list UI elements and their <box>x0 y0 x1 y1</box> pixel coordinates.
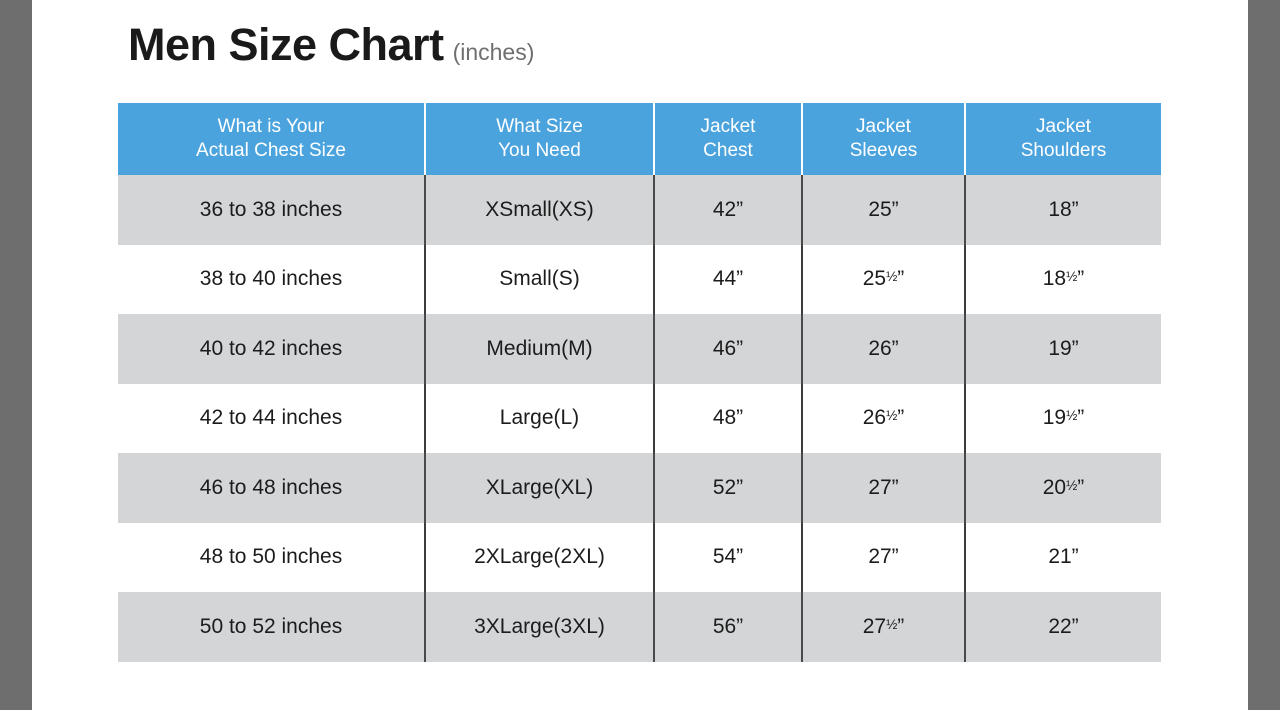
jacket-row-sleeves: 25½” <box>802 245 965 315</box>
table-row: 36 to 38 inchesXSmall(XS)42”25”18” <box>118 175 1161 245</box>
header-line-1: What Size <box>496 116 583 137</box>
jacket-row-size-needed: 2XLarge(2XL) <box>425 523 654 593</box>
table-row: 40 to 42 inchesMedium(M)46”26”19” <box>118 314 1161 384</box>
header-line-1: Jacket <box>701 116 756 137</box>
jacket-row-chest: 42” <box>654 175 802 245</box>
table-body: 36 to 38 inchesXSmall(XS)42”25”18”38 to … <box>118 175 1161 662</box>
column-header-jacket-sleeves: Jacket Sleeves <box>802 103 965 175</box>
header-line-1: Jacket <box>856 116 911 137</box>
jacket-row-sleeves: 27½” <box>802 592 965 662</box>
jacket-row-actual-chest-size: 46 to 48 inches <box>118 453 425 523</box>
jacket-row-sleeves: 27” <box>802 453 965 523</box>
jacket-row-size-needed: XSmall(XS) <box>425 175 654 245</box>
jacket-row-chest: 44” <box>654 245 802 315</box>
jacket-row-actual-chest-size: 48 to 50 inches <box>118 523 425 593</box>
column-header-jacket-shoulders: Jacket Shoulders <box>965 103 1161 175</box>
header-line-1: Jacket <box>1036 116 1091 137</box>
jacket-row-chest: 52” <box>654 453 802 523</box>
jacket-row-shoulders: 21” <box>965 523 1161 593</box>
jacket-row-size-needed: Large(L) <box>425 384 654 454</box>
jacket-row-actual-chest-size: 40 to 42 inches <box>118 314 425 384</box>
jacket-row-sleeves: 26” <box>802 314 965 384</box>
column-header-jacket-chest: Jacket Chest <box>654 103 802 175</box>
jacket-row-shoulders: 19½” <box>965 384 1161 454</box>
jacket-row-size-needed: XLarge(XL) <box>425 453 654 523</box>
header-line-2: Shoulders <box>1021 140 1107 161</box>
table-header: What is Your Actual Chest Size What Size… <box>118 103 1161 175</box>
left-letterbox-band <box>0 0 32 710</box>
table-row: 46 to 48 inchesXLarge(XL)52”27”20½” <box>118 453 1161 523</box>
table-header-row: What is Your Actual Chest Size What Size… <box>118 103 1161 175</box>
header-line-2: You Need <box>498 140 581 161</box>
page-title-main: Men Size Chart <box>128 22 444 67</box>
jacket-row-shoulders: 22” <box>965 592 1161 662</box>
jacket-row-actual-chest-size: 38 to 40 inches <box>118 245 425 315</box>
jacket-row-size-needed: 3XLarge(3XL) <box>425 592 654 662</box>
column-header-actual-chest-size: What is Your Actual Chest Size <box>118 103 425 175</box>
table-row: 38 to 40 inchesSmall(S)44”25½”18½” <box>118 245 1161 315</box>
header-line-2: Sleeves <box>850 140 918 161</box>
jacket-row-actual-chest-size: 50 to 52 inches <box>118 592 425 662</box>
jacket-row-shoulders: 19” <box>965 314 1161 384</box>
jacket-row-chest: 54” <box>654 523 802 593</box>
jacket-row-sleeves: 26½” <box>802 384 965 454</box>
jacket-row-actual-chest-size: 36 to 38 inches <box>118 175 425 245</box>
jacket-row-chest: 56” <box>654 592 802 662</box>
table-row: 50 to 52 inches3XLarge(3XL)56”27½”22” <box>118 592 1161 662</box>
page-title: Men Size Chart (inches) <box>128 22 534 67</box>
page-title-unit: (inches) <box>453 41 535 64</box>
men-size-chart-table: What is Your Actual Chest Size What Size… <box>118 103 1161 662</box>
jacket-row-size-needed: Medium(M) <box>425 314 654 384</box>
jacket-row-actual-chest-size: 42 to 44 inches <box>118 384 425 454</box>
jacket-row-size-needed: Small(S) <box>425 245 654 315</box>
jacket-row-shoulders: 18½” <box>965 245 1161 315</box>
jacket-row-sleeves: 27” <box>802 523 965 593</box>
header-line-2: Actual Chest Size <box>196 140 346 161</box>
jacket-row-shoulders: 18” <box>965 175 1161 245</box>
table-row: 42 to 44 inchesLarge(L)48”26½”19½” <box>118 384 1161 454</box>
right-letterbox-band <box>1248 0 1280 710</box>
jacket-row-sleeves: 25” <box>802 175 965 245</box>
header-line-2: Chest <box>703 140 753 161</box>
table-row: 48 to 50 inches2XLarge(2XL)54”27”21” <box>118 523 1161 593</box>
jacket-row-chest: 46” <box>654 314 802 384</box>
jacket-row-chest: 48” <box>654 384 802 454</box>
header-line-1: What is Your <box>218 116 325 137</box>
column-header-size-needed: What Size You Need <box>425 103 654 175</box>
size-chart-page: Men Size Chart (inches) What is Your Act… <box>32 0 1248 710</box>
screenshot-stage: Men Size Chart (inches) What is Your Act… <box>0 0 1280 710</box>
jacket-row-shoulders: 20½” <box>965 453 1161 523</box>
